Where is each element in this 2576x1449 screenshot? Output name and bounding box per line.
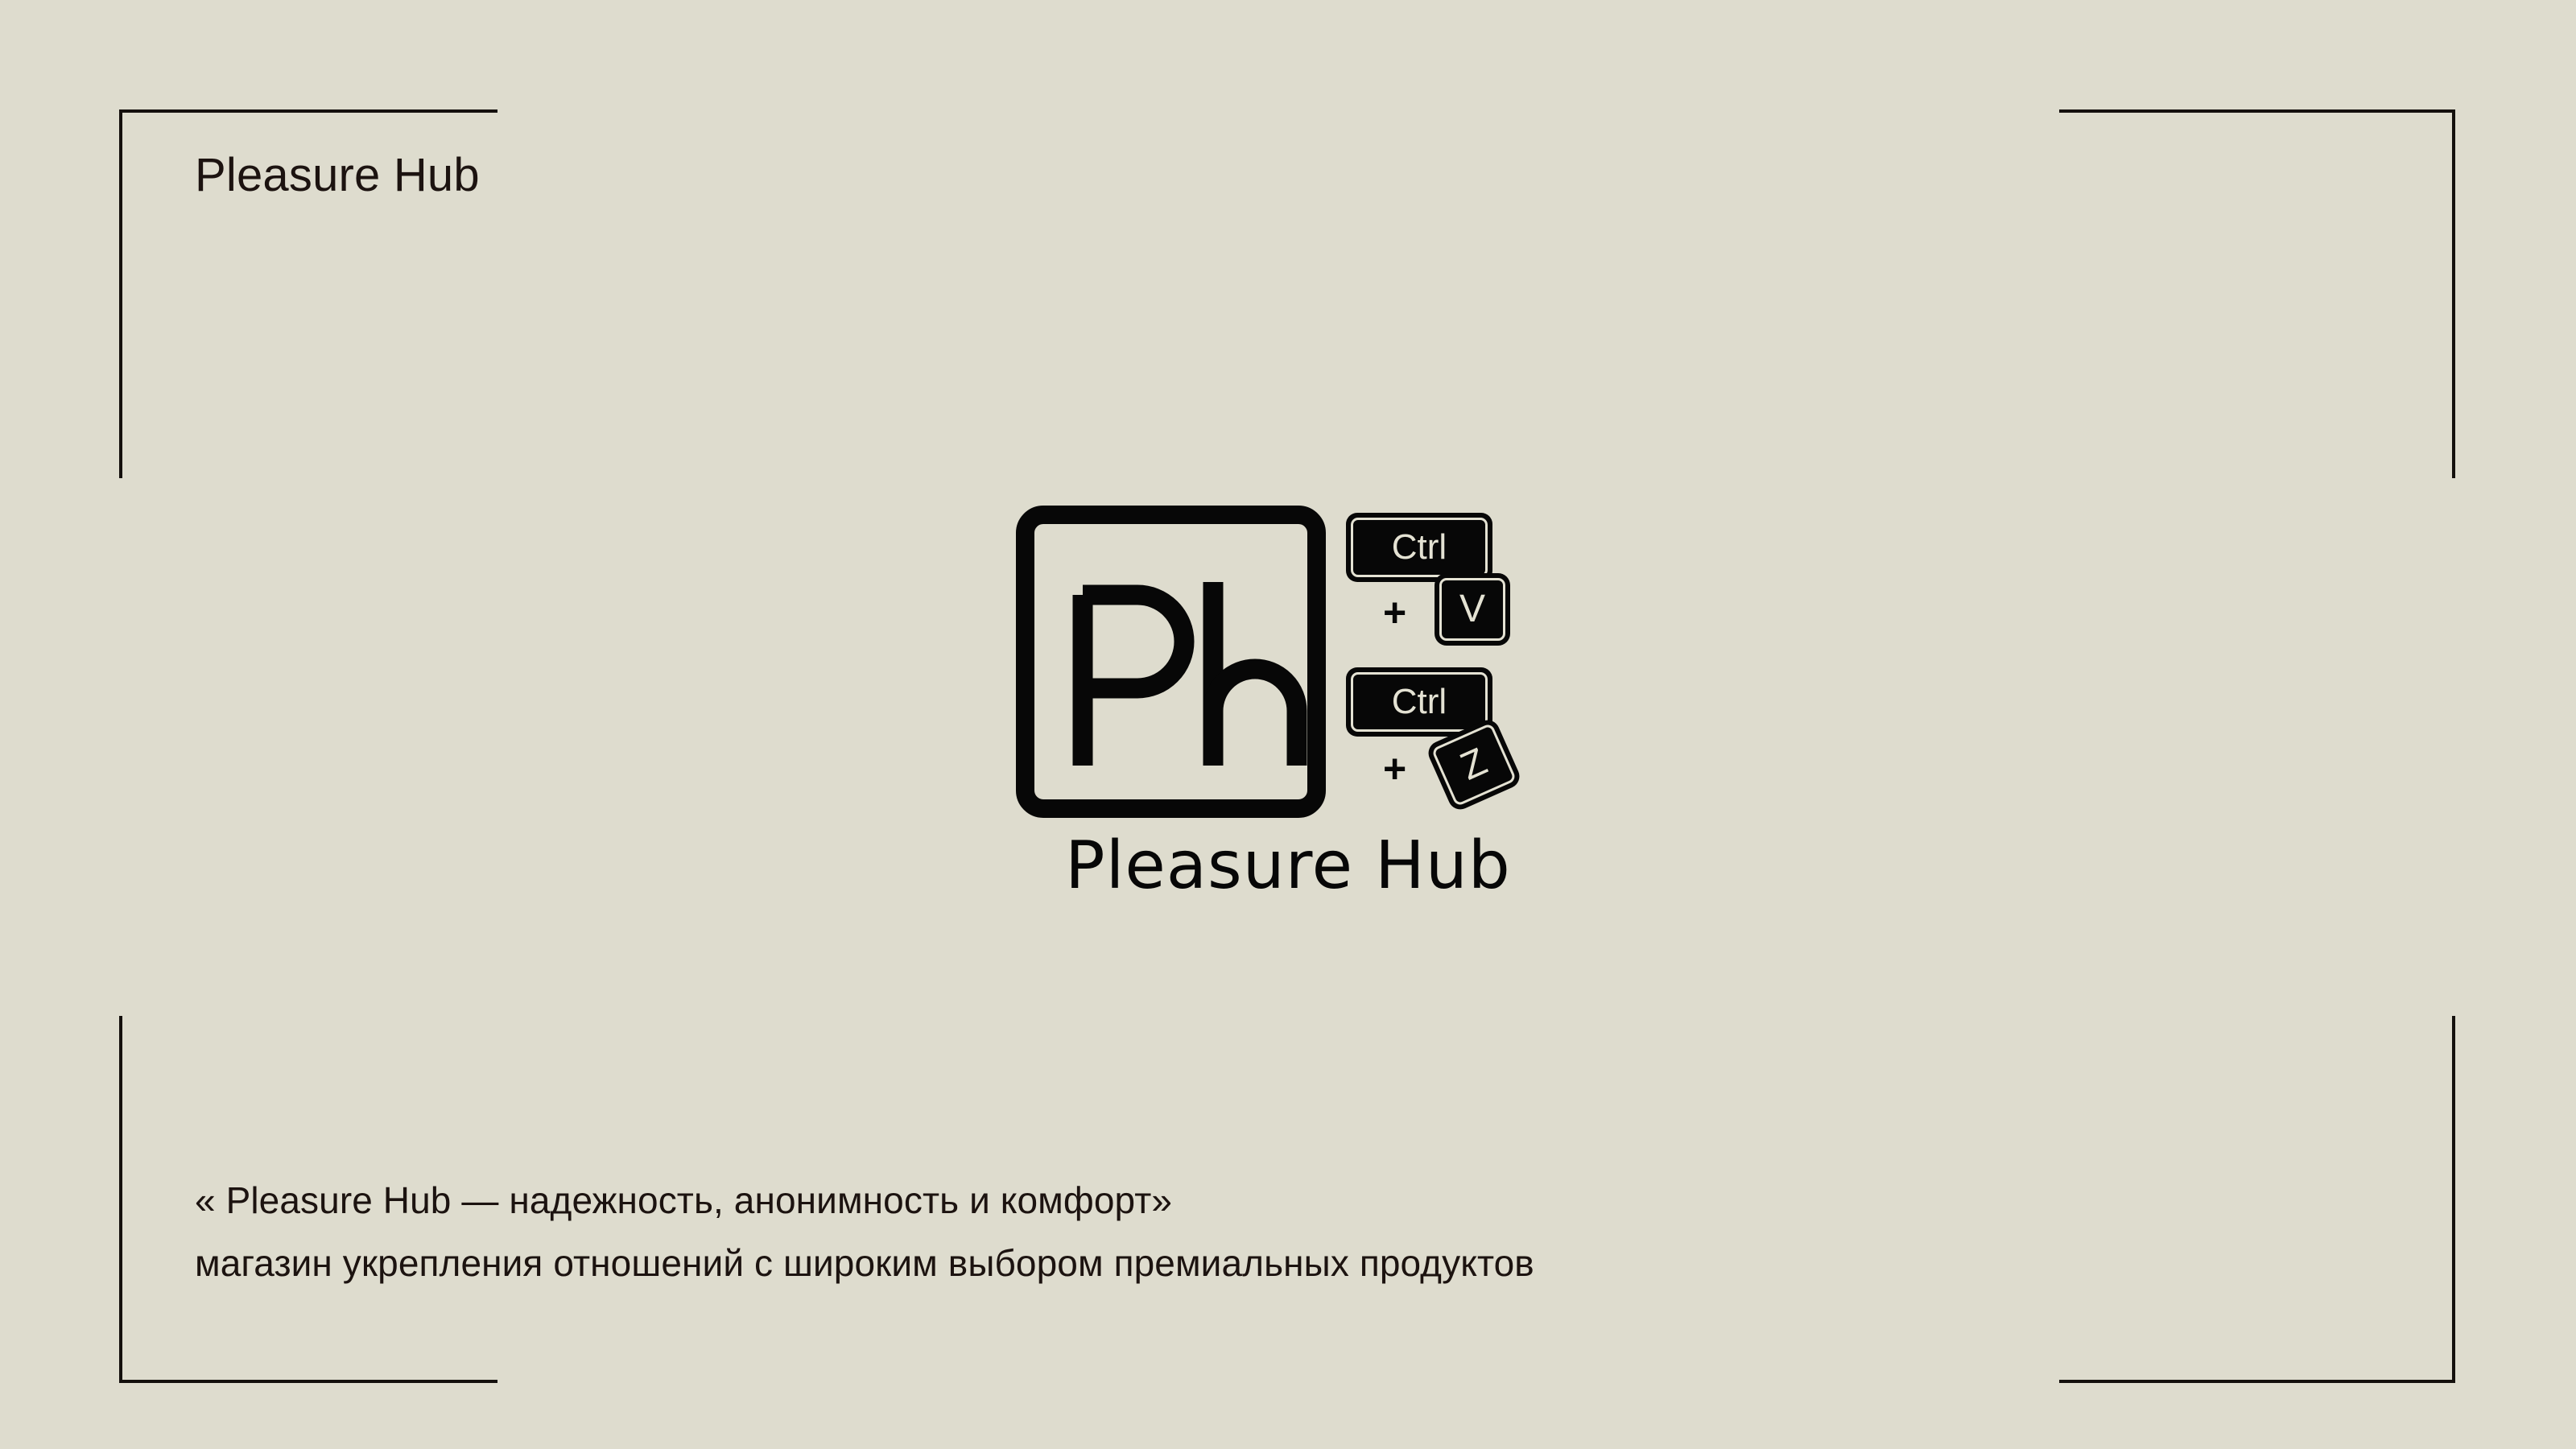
key-label: Ctrl: [1392, 530, 1447, 565]
key-label: V: [1459, 590, 1485, 629]
shortcut-keys-cluster: Ctrl + V Ctrl + Z: [1336, 497, 1566, 819]
page-title: Pleasure Hub: [195, 150, 480, 201]
key-label: Z: [1455, 742, 1492, 787]
logo-lockup: Ctrl + V Ctrl + Z Pleasure: [1010, 497, 1566, 924]
tagline-line-1: « Pleasure Hub — надежность, анонимность…: [195, 1169, 2288, 1232]
bracket-line-vertical: [2452, 1016, 2455, 1383]
logo-wordmark: Pleasure Hub: [1010, 824, 1566, 912]
tagline-line-2: магазин укрепления отношений с широким в…: [195, 1232, 2288, 1294]
logo-mark: Ctrl + V Ctrl + Z: [1010, 497, 1566, 819]
monogram-ph-icon: [1034, 524, 1344, 836]
corner-bracket-top-right: [2059, 109, 2455, 478]
key-label: Ctrl: [1392, 684, 1447, 720]
bracket-line-horizontal: [119, 1380, 497, 1383]
slide-canvas: Pleasure Hub Ctrl: [0, 0, 2576, 1449]
logo-wordmark-text: Pleasure Hub: [1065, 828, 1511, 904]
bracket-line-horizontal: [2059, 1380, 2455, 1383]
monogram-square-frame: [1016, 506, 1326, 818]
tagline-block: « Pleasure Hub — надежность, анонимность…: [195, 1169, 2288, 1294]
bracket-line-horizontal: [2059, 109, 2455, 113]
bracket-line-vertical: [119, 109, 122, 478]
plus-icon-undo: +: [1383, 749, 1406, 789]
bracket-line-vertical: [119, 1016, 122, 1383]
plus-icon-paste: +: [1383, 592, 1406, 633]
bracket-line-horizontal: [119, 109, 497, 113]
bracket-line-vertical: [2452, 109, 2455, 478]
key-ctrl-paste: Ctrl: [1346, 513, 1492, 582]
key-v: V: [1435, 573, 1510, 646]
